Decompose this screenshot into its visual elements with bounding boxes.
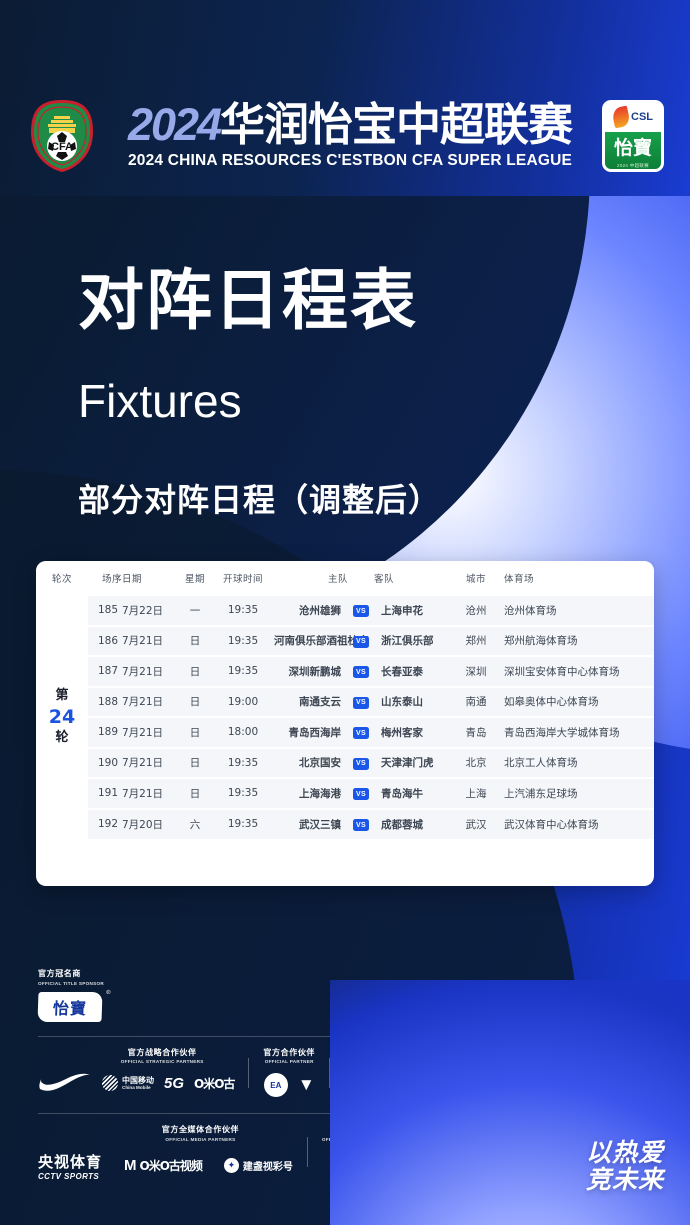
strategic-partner-label: 官方战略合作伙伴 OFFICIAL STRATEGIC PARTNERS bbox=[38, 1047, 234, 1065]
round-number: 24 bbox=[49, 706, 75, 730]
cell-vs: VS bbox=[348, 809, 374, 840]
table-header-row: 轮次 场序 日期 星期 开球时间 主队 客队 城市 体育场 bbox=[36, 561, 654, 595]
cctv-sports-logo: 央视体育 CCTV SPORTS bbox=[38, 1151, 102, 1181]
title-sponsor-block: 官方冠名商 OFFICIAL TITLE SPONSOR 怡寶 ® bbox=[38, 968, 488, 1022]
page-title-en: Fixtures bbox=[78, 378, 242, 424]
cell-city: 深圳 bbox=[448, 656, 504, 687]
cell-away-team: 浙江俱乐部 bbox=[374, 626, 448, 657]
strategic-logos: 中国移动 China Mobile 5G O米O古 bbox=[38, 1073, 234, 1093]
china-mobile-en: China Mobile bbox=[122, 1085, 154, 1090]
media-label-en: OFFICIAL MEDIA PARTNERS bbox=[108, 1137, 293, 1142]
chevron-mark-icon bbox=[344, 1078, 364, 1094]
campaign-slogan: 以热爱 竞未来 bbox=[586, 1140, 664, 1193]
col-stadium: 体育场 bbox=[504, 561, 654, 595]
title-sponsor-label-cn: 官方冠名商 bbox=[38, 968, 104, 979]
migu-video-text: O米O古视频 bbox=[140, 1157, 202, 1174]
cell-vs: VS bbox=[348, 717, 374, 748]
table-row: 第24轮1857月22日一19:35沧州雄狮VS上海申花沧州沧州体育场 bbox=[36, 595, 654, 626]
page-title-cn: 对阵日程表 bbox=[78, 268, 418, 334]
photo-partner-label: 官方图片合作机构 OFFICIAL PHOTOGRAPHIC SERVICES … bbox=[322, 1124, 443, 1142]
cell-match-no: 186 bbox=[88, 626, 122, 657]
jianzhan-mark-icon: ✦ bbox=[224, 1158, 239, 1173]
yibao-logo: 怡寶 ® bbox=[37, 992, 102, 1022]
cell-home-team: 深圳新鹏城 bbox=[274, 656, 348, 687]
cell-home-team: 武汉三镇 bbox=[274, 809, 348, 840]
col-vs bbox=[348, 561, 374, 595]
vs-badge: VS bbox=[353, 727, 370, 739]
five-g-plus-logo: 5G bbox=[164, 1075, 184, 1092]
cell-weekday: 六 bbox=[178, 809, 212, 840]
cell-stadium: 上汽浦东足球场 bbox=[504, 778, 654, 809]
fixtures-table-head: 轮次 场序 日期 星期 开球时间 主队 客队 城市 体育场 bbox=[36, 561, 654, 595]
cell-match-no: 190 bbox=[88, 748, 122, 779]
cell-away-team: 天津津门虎 bbox=[374, 748, 448, 779]
partner-row-1: 官方战略合作伙伴 OFFICIAL STRATEGIC PARTNERS 中国移… bbox=[38, 1047, 488, 1100]
cell-city: 青岛 bbox=[448, 717, 504, 748]
league-title-cn-text: 华润怡宝中超联赛 bbox=[220, 98, 572, 151]
cell-city: 上海 bbox=[448, 778, 504, 809]
cell-match-no: 189 bbox=[88, 717, 122, 748]
vs-badge: VS bbox=[353, 788, 370, 800]
photo-logos: IC photo bbox=[322, 1151, 443, 1171]
photo-label-en: OFFICIAL PHOTOGRAPHIC SERVICES PROVIDER bbox=[322, 1137, 443, 1142]
cell-stadium: 北京工人体育场 bbox=[504, 748, 654, 779]
cell-kickoff: 19:35 bbox=[212, 748, 274, 779]
china-mobile-text: 中国移动 China Mobile bbox=[122, 1076, 154, 1090]
card-footer-space bbox=[36, 839, 654, 873]
vs-badge: VS bbox=[353, 758, 370, 770]
media-logos: 央视体育 CCTV SPORTS M O米O古视频 ✦ 建盏视彩号 bbox=[38, 1151, 293, 1181]
partner-row-2: 官方全媒体合作伙伴 OFFICIAL MEDIA PARTNERS 央视体育 C… bbox=[38, 1124, 488, 1181]
registered-mark-icon: ® bbox=[106, 990, 111, 996]
title-sponsor-label-en: OFFICIAL TITLE SPONSOR bbox=[38, 981, 104, 986]
migu-logo: O米O古 bbox=[194, 1075, 234, 1092]
sponsor-separator-2 bbox=[329, 1058, 330, 1088]
strategic-label-cn: 官方战略合作伙伴 bbox=[90, 1047, 234, 1058]
cell-weekday: 日 bbox=[178, 656, 212, 687]
col-city: 城市 bbox=[448, 561, 504, 595]
media-partner-label: 官方全媒体合作伙伴 OFFICIAL MEDIA PARTNERS bbox=[38, 1124, 293, 1142]
cell-weekday: 日 bbox=[178, 778, 212, 809]
cell-home-team: 南通支云 bbox=[274, 687, 348, 718]
slogan-line-2: 竞未来 bbox=[586, 1167, 664, 1194]
poster-root: CFA 2024华润怡宝中超联赛 2024 CHINA RESOURCES C'… bbox=[0, 0, 690, 1225]
fixtures-table-body: 第24轮1857月22日一19:35沧州雄狮VS上海申花沧州沧州体育场1867月… bbox=[36, 595, 654, 839]
migu-m-icon: M bbox=[124, 1157, 137, 1174]
ea-sports-logo: EA bbox=[264, 1073, 288, 1097]
china-mobile-cn: 中国移动 bbox=[122, 1076, 154, 1085]
table-row: 1907月21日日19:35北京国安VS天津津门虎北京北京工人体育场 bbox=[36, 748, 654, 779]
cfa-crest-icon: CFA bbox=[26, 98, 98, 174]
flame-icon bbox=[611, 105, 631, 128]
league-title-block: 2024华润怡宝中超联赛 2024 CHINA RESOURCES C'ESTB… bbox=[98, 102, 602, 170]
china-mobile-mark-icon bbox=[102, 1075, 118, 1091]
ic-mark-icon: IC bbox=[348, 1151, 368, 1171]
partner-logos: EA ▼ bbox=[263, 1073, 315, 1097]
csl-yibao-logo: CSL 怡寶 2024 中超联赛 bbox=[602, 100, 664, 172]
yibao-logo-text: 怡寶 bbox=[53, 995, 88, 1019]
cctv-en: CCTV SPORTS bbox=[38, 1172, 102, 1181]
cell-away-team: 青岛海牛 bbox=[374, 778, 448, 809]
slogan-line-1: 以热爱 bbox=[586, 1140, 664, 1167]
photo-label-cn: 官方图片合作机构 bbox=[322, 1124, 443, 1135]
box-sponsor-logo: 烯用普汇 bbox=[432, 1073, 458, 1099]
cell-city: 北京 bbox=[448, 748, 504, 779]
cell-match-no: 185 bbox=[88, 595, 122, 626]
cell-away-team: 成都蓉城 bbox=[374, 809, 448, 840]
cell-date: 7月21日 bbox=[122, 687, 178, 718]
cell-vs: VS bbox=[348, 778, 374, 809]
cell-kickoff: 19:35 bbox=[212, 809, 274, 840]
cell-date: 7月22日 bbox=[122, 595, 178, 626]
cell-stadium: 青岛西海岸大学城体育场 bbox=[504, 717, 654, 748]
partner-label-cn: 官方合作伙伴 bbox=[263, 1047, 315, 1058]
cell-home-team: 北京国安 bbox=[274, 748, 348, 779]
table-row: 1897月21日日18:00青岛西海岸VS梅州客家青岛青岛西海岸大学城体育场 bbox=[36, 717, 654, 748]
league-title-year: 2024 bbox=[128, 99, 220, 150]
sponsor-divider-2 bbox=[38, 1113, 488, 1114]
official-partner-label: 官方合作伙伴 OFFICIAL PARTNER bbox=[263, 1047, 315, 1065]
cell-weekday: 一 bbox=[178, 595, 212, 626]
cell-kickoff: 19:35 bbox=[212, 595, 274, 626]
vivo-logo: ▼ bbox=[298, 1075, 315, 1095]
jianzhan-logo: ✦ 建盏视彩号 bbox=[224, 1158, 293, 1173]
cell-stadium: 武汉体育中心体育场 bbox=[504, 809, 654, 840]
col-home-team: 主队 bbox=[274, 561, 348, 595]
vs-badge: VS bbox=[353, 666, 370, 678]
sponsor-label-cn: 官方赞助商 bbox=[344, 1047, 458, 1058]
cell-home-team: 河南俱乐部酒祖杜康 bbox=[274, 626, 348, 657]
csl-mark-text: CSL bbox=[631, 111, 653, 123]
cell-date: 7月21日 bbox=[122, 626, 178, 657]
cell-away-team: 上海申花 bbox=[374, 595, 448, 626]
table-row: 1917月21日日19:35上海海港VS青岛海牛上海上汽浦东足球场 bbox=[36, 778, 654, 809]
cell-weekday: 日 bbox=[178, 687, 212, 718]
cell-home-team: 上海海港 bbox=[274, 778, 348, 809]
cell-weekday: 日 bbox=[178, 717, 212, 748]
cell-away-team: 长春亚泰 bbox=[374, 656, 448, 687]
cell-stadium: 郑州航海体育场 bbox=[504, 626, 654, 657]
cell-date: 7月21日 bbox=[122, 656, 178, 687]
col-away-team: 客队 bbox=[374, 561, 448, 595]
vs-badge: VS bbox=[353, 819, 370, 831]
chevron-logo: 雪佛龙 润滑油 bbox=[344, 1078, 422, 1094]
cell-home-team: 沧州雄狮 bbox=[274, 595, 348, 626]
cell-away-team: 梅州客家 bbox=[374, 717, 448, 748]
fixtures-table: 轮次 场序 日期 星期 开球时间 主队 客队 城市 体育场 第24轮1857月2… bbox=[36, 561, 654, 839]
chevron-cn-2: 润滑油 bbox=[397, 1081, 423, 1091]
cell-vs: VS bbox=[348, 656, 374, 687]
cell-date: 7月21日 bbox=[122, 717, 178, 748]
ic-photo-logo: IC photo bbox=[348, 1151, 417, 1171]
cell-away-team: 山东泰山 bbox=[374, 687, 448, 718]
jianzhan-text: 建盏视彩号 bbox=[243, 1158, 293, 1173]
cell-stadium: 沧州体育场 bbox=[504, 595, 654, 626]
chevron-cn-1: 雪佛龙 bbox=[368, 1081, 394, 1091]
cell-match-no: 191 bbox=[88, 778, 122, 809]
col-match-no: 场序 bbox=[88, 561, 122, 595]
cell-kickoff: 18:00 bbox=[212, 717, 274, 748]
cell-match-no: 187 bbox=[88, 656, 122, 687]
cell-kickoff: 19:35 bbox=[212, 778, 274, 809]
fixtures-card: 轮次 场序 日期 星期 开球时间 主队 客队 城市 体育场 第24轮1857月2… bbox=[36, 561, 654, 886]
photo-partner-group: 官方图片合作机构 OFFICIAL PHOTOGRAPHIC SERVICES … bbox=[322, 1124, 443, 1171]
official-sponsor-group: 官方赞助商 OFFICIAL SPONSORS 雪佛龙 润滑油 烯用普汇 bbox=[344, 1047, 458, 1100]
cell-stadium: 如皋奥体中心体育场 bbox=[504, 687, 654, 718]
cell-stadium: 深圳宝安体育中心体育场 bbox=[504, 656, 654, 687]
col-weekday: 星期 bbox=[178, 561, 212, 595]
csl-sub-text: 2024 中超联赛 bbox=[617, 163, 649, 169]
official-sponsor-label: 官方赞助商 OFFICIAL SPONSORS bbox=[344, 1047, 458, 1065]
league-title-en: 2024 CHINA RESOURCES C'ESTBON CFA SUPER … bbox=[128, 152, 572, 170]
page-subtitle: 部分对阵日程（调整后） bbox=[78, 484, 441, 516]
cell-kickoff: 19:35 bbox=[212, 626, 274, 657]
table-row: 1887月21日日19:00南通支云VS山东泰山南通如皋奥体中心体育场 bbox=[36, 687, 654, 718]
vs-badge: VS bbox=[353, 605, 370, 617]
sponsor-section: 官方冠名商 OFFICIAL TITLE SPONSOR 怡寶 ® 官方战略合作… bbox=[38, 968, 488, 1181]
col-kickoff: 开球时间 bbox=[212, 561, 274, 595]
ic-photo-word: photo bbox=[373, 1152, 417, 1169]
league-title-cn: 2024华润怡宝中超联赛 bbox=[128, 102, 572, 147]
cell-vs: VS bbox=[348, 595, 374, 626]
svg-text:CFA: CFA bbox=[51, 141, 73, 153]
cctv-cn: 央视体育 bbox=[38, 1151, 102, 1172]
poster-header: CFA 2024华润怡宝中超联赛 2024 CHINA RESOURCES C'… bbox=[0, 86, 690, 186]
nike-swoosh-icon bbox=[38, 1073, 92, 1093]
migu-video-logo: M O米O古视频 bbox=[124, 1157, 202, 1174]
media-partner-group: 官方全媒体合作伙伴 OFFICIAL MEDIA PARTNERS 央视体育 C… bbox=[38, 1124, 293, 1181]
round-cell: 第24轮 bbox=[36, 595, 88, 839]
cell-vs: VS bbox=[348, 748, 374, 779]
table-row: 1877月21日日19:35深圳新鹏城VS长春亚泰深圳深圳宝安体育中心体育场 bbox=[36, 656, 654, 687]
cell-kickoff: 19:00 bbox=[212, 687, 274, 718]
cell-city: 南通 bbox=[448, 687, 504, 718]
cell-match-no: 192 bbox=[88, 809, 122, 840]
cell-date: 7月21日 bbox=[122, 748, 178, 779]
cell-date: 7月20日 bbox=[122, 809, 178, 840]
table-row: 1927月20日六19:35武汉三镇VS成都蓉城武汉武汉体育中心体育场 bbox=[36, 809, 654, 840]
sponsor-logos: 雪佛龙 润滑油 烯用普汇 bbox=[344, 1073, 458, 1099]
sponsor-separator-3 bbox=[307, 1137, 308, 1167]
cell-home-team: 青岛西海岸 bbox=[274, 717, 348, 748]
cell-city: 郑州 bbox=[448, 626, 504, 657]
sponsor-divider-1 bbox=[38, 1036, 488, 1037]
strategic-partner-group: 官方战略合作伙伴 OFFICIAL STRATEGIC PARTNERS 中国移… bbox=[38, 1047, 234, 1094]
cell-weekday: 日 bbox=[178, 748, 212, 779]
cell-date: 7月21日 bbox=[122, 778, 178, 809]
cell-vs: VS bbox=[348, 687, 374, 718]
vs-badge: VS bbox=[353, 636, 370, 648]
partner-label-en: OFFICIAL PARTNER bbox=[263, 1059, 315, 1064]
sponsor-separator-1 bbox=[248, 1058, 249, 1088]
official-partner-group: 官方合作伙伴 OFFICIAL PARTNER EA ▼ bbox=[263, 1047, 315, 1098]
csl-brand-text: 怡寶 bbox=[614, 133, 652, 160]
col-round: 轮次 bbox=[36, 561, 88, 595]
cell-match-no: 188 bbox=[88, 687, 122, 718]
cell-kickoff: 19:35 bbox=[212, 656, 274, 687]
china-mobile-logo: 中国移动 China Mobile bbox=[102, 1075, 154, 1091]
cell-weekday: 日 bbox=[178, 626, 212, 657]
media-label-cn: 官方全媒体合作伙伴 bbox=[108, 1124, 293, 1135]
round-suffix: 轮 bbox=[55, 730, 68, 746]
vs-badge: VS bbox=[353, 697, 370, 709]
table-row: 1867月21日日19:35河南俱乐部酒祖杜康VS浙江俱乐部郑州郑州航海体育场 bbox=[36, 626, 654, 657]
round-prefix: 第 bbox=[55, 688, 68, 704]
sponsor-label-en: OFFICIAL SPONSORS bbox=[344, 1059, 458, 1064]
cell-city: 武汉 bbox=[448, 809, 504, 840]
chevron-text: 雪佛龙 润滑油 bbox=[368, 1081, 422, 1091]
cell-city: 沧州 bbox=[448, 595, 504, 626]
strategic-label-en: OFFICIAL STRATEGIC PARTNERS bbox=[90, 1059, 234, 1064]
title-sponsor-label: 官方冠名商 OFFICIAL TITLE SPONSOR bbox=[38, 968, 104, 986]
col-date: 日期 bbox=[122, 561, 178, 595]
